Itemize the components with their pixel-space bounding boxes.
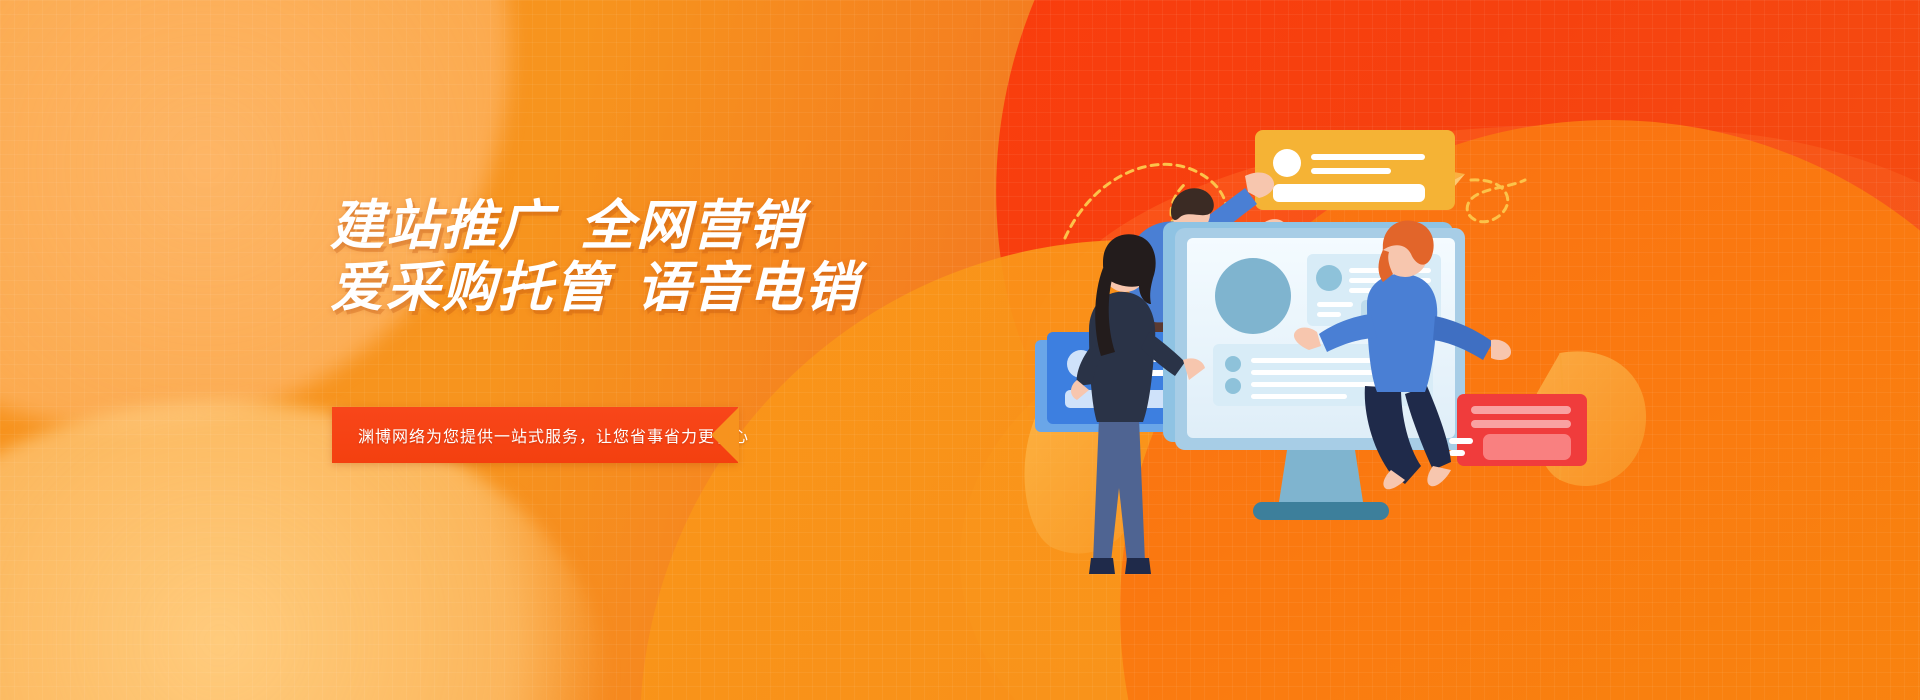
headline-line-1: 建站推广全网营销 (330, 196, 1090, 258)
headline-line-1-part-2: 全网营销 (580, 196, 804, 256)
headline-line-2-part-2: 语音电销 (636, 258, 860, 318)
headline-line-2-part-1: 爱采购托管 (330, 258, 610, 318)
headline-line-1-part-1: 建站推广 (330, 196, 554, 256)
yellow-profile-card (1255, 130, 1455, 210)
screen-avatar (1215, 258, 1291, 334)
headline-line-2: 爱采购托管语音电销 (330, 258, 1090, 320)
tagline-ribbon: 渊博网络为您提供一站式服务，让您省事省力更省心 (332, 407, 738, 463)
hero-illustration (1105, 118, 1745, 608)
dashed-path-right-icon (1467, 180, 1525, 222)
tagline-text: 渊博网络为您提供一站式服务，让您省事省力更省心 (332, 423, 749, 447)
illustration-svg (1105, 118, 1745, 608)
headline-block: 建站推广全网营销 爱采购托管语音电销 (330, 196, 1090, 319)
promo-banner: 建站推广全网营销 爱采购托管语音电销 渊博网络为您提供一站式服务，让您省事省力更… (0, 0, 1920, 700)
ribbon-notch-icon (711, 407, 739, 463)
red-card (1449, 394, 1587, 466)
